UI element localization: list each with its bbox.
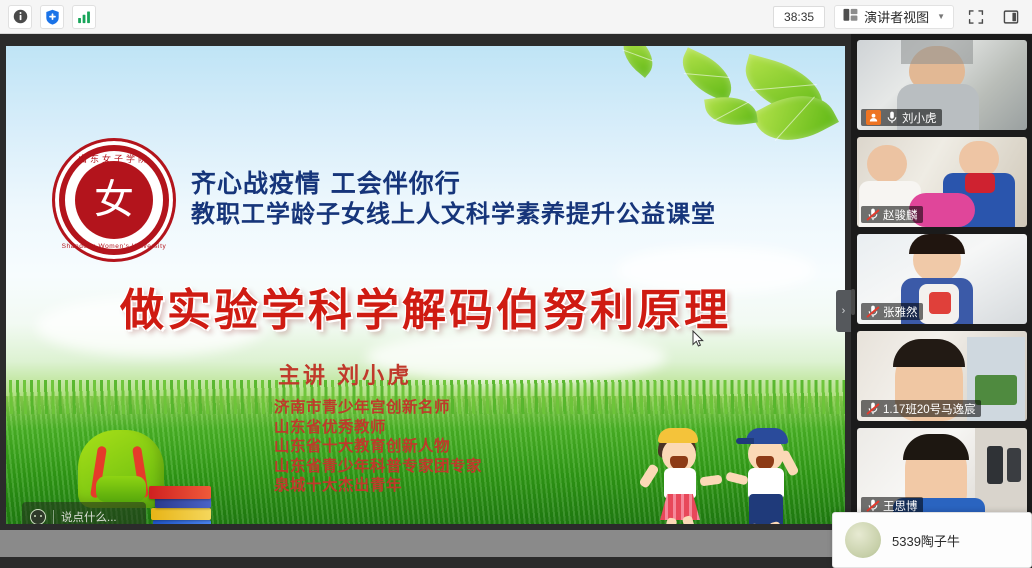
participant-tile[interactable]: 刘小虎	[857, 40, 1027, 130]
participant-name: 张雅然	[883, 304, 918, 320]
slide-credentials: 济南市青少年宫创新名师 山东省优秀教师 山东省十大教育创新人物 山东省青少年科普…	[274, 398, 482, 496]
participant-tile[interactable]: 赵骏麟	[857, 137, 1027, 227]
participant-name-chip: 1.17班20号马逸宸	[861, 400, 981, 417]
children-illustration	[636, 418, 826, 524]
fullscreen-icon[interactable]	[963, 5, 989, 29]
mic-off-icon	[866, 499, 879, 513]
slide-header-line-2: 教职工学龄子女线上人文科学素养提升公益课堂	[191, 199, 716, 230]
stage-bottom-bar	[0, 530, 851, 557]
participant-tile[interactable]: 王思博	[857, 428, 1027, 518]
logo-center-char: 女	[75, 161, 153, 239]
leaf-decoration	[614, 46, 661, 78]
toolbar-left-group	[8, 5, 96, 29]
logo-bottom-text: Shandong Women's University	[55, 243, 173, 250]
meeting-window: 38:35 演讲者视图 ▼	[0, 0, 1032, 568]
mouse-cursor	[692, 330, 704, 348]
leaf-decoration	[704, 93, 758, 130]
person-icon	[866, 110, 881, 125]
credential-item: 山东省十大教育创新人物	[274, 437, 482, 457]
panel-scrollbar[interactable]	[851, 289, 855, 315]
mic-off-icon	[866, 402, 879, 416]
credential-item: 山东省优秀教师	[274, 418, 482, 438]
participant-tile[interactable]: 1.17班20号马逸宸	[857, 331, 1027, 421]
mic-on-icon	[885, 111, 898, 125]
participant-panel: 刘小虎	[851, 34, 1032, 568]
participant-name-chip: 赵骏麟	[861, 206, 923, 223]
panel-collapse-handle[interactable]: ›	[836, 290, 851, 332]
chat-input-bar[interactable]: 说点什么...	[22, 502, 146, 524]
divider	[53, 510, 54, 525]
slide-main-title: 做实验学科学解码伯努利原理	[6, 274, 845, 338]
leaf-decoration	[674, 47, 741, 102]
books-illustration	[149, 486, 213, 524]
view-mode-label: 演讲者视图	[864, 7, 929, 26]
signal-bars-icon[interactable]	[72, 5, 96, 29]
view-mode-dropdown[interactable]: 演讲者视图 ▼	[834, 5, 954, 29]
info-icon[interactable]	[8, 5, 32, 29]
participant-name: 1.17班20号马逸宸	[883, 401, 976, 417]
participant-name-chip: 张雅然	[861, 303, 923, 320]
toolbar-right-group: 38:35 演讲者视图 ▼	[773, 5, 1024, 29]
logo-top-text: 山东女子学院	[55, 152, 173, 165]
slide-header: 齐心战疫情 工会伴你行 教职工学龄子女线上人文科学素养提升公益课堂	[191, 168, 716, 230]
credential-item: 泉城十大杰出青年	[274, 476, 482, 496]
stage-bottom-edge	[0, 557, 851, 568]
slide-header-line-1: 齐心战疫情 工会伴你行	[191, 168, 716, 199]
top-toolbar: 38:35 演讲者视图 ▼	[0, 0, 1032, 34]
speaker-view-icon	[843, 8, 858, 25]
presentation-stage: 山东女子学院 女 Shandong Women's University 齐心战…	[0, 34, 851, 568]
slide-speaker: 主讲 刘小虎	[278, 358, 412, 390]
chevron-down-icon: ▼	[937, 12, 945, 21]
participant-name: 赵骏麟	[883, 207, 918, 223]
join-notification-toast[interactable]: 5339陶子牛	[832, 512, 1032, 568]
participant-tile[interactable]: 张雅然	[857, 234, 1027, 324]
mic-off-icon	[866, 208, 879, 222]
toast-participant-name: 5339陶子牛	[892, 531, 960, 550]
participant-name: 刘小虎	[902, 110, 937, 126]
meeting-timer: 38:35	[773, 6, 825, 28]
mic-off-icon	[866, 305, 879, 319]
participant-name-chip: 刘小虎	[861, 109, 942, 126]
avatar	[845, 522, 881, 558]
university-logo: 山东女子学院 女 Shandong Women's University	[52, 138, 176, 262]
shield-plus-icon[interactable]	[40, 5, 64, 29]
credential-item: 山东省青少年科普专家团专家	[274, 457, 482, 477]
split-view-icon[interactable]	[998, 5, 1024, 29]
chat-input-placeholder[interactable]: 说点什么...	[61, 509, 117, 524]
emoji-smiley-icon[interactable]	[30, 509, 46, 524]
shared-slide[interactable]: 山东女子学院 女 Shandong Women's University 齐心战…	[6, 46, 845, 524]
credential-item: 济南市青少年宫创新名师	[274, 398, 482, 418]
